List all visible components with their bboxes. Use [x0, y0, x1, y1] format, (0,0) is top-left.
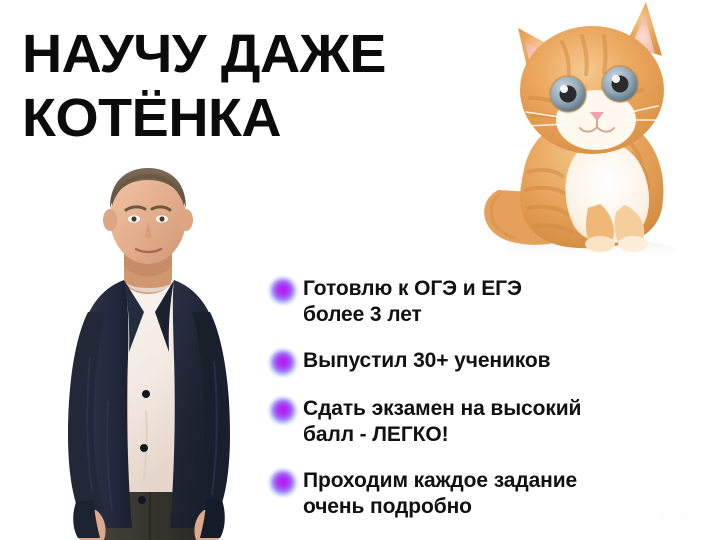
- list-item-line: более 3 лет: [303, 303, 422, 326]
- avito-logo-icon: [626, 506, 652, 530]
- avito-wordmark: Avito: [655, 507, 706, 529]
- list-item: Готовлю к ОГЭ и ЕГЭ более 3 лет: [270, 276, 710, 328]
- tutor-photo: [28, 162, 280, 540]
- gradient-dot-bullet-icon: [270, 350, 296, 376]
- list-item-line: очень подробно: [303, 495, 472, 518]
- gradient-dot-bullet-icon: [270, 398, 296, 424]
- list-item-line: Сдать экзамен на высокий: [303, 397, 581, 420]
- list-item-line: балл - ЛЕГКО!: [303, 423, 449, 446]
- list-item-line: Готовлю к ОГЭ и ЕГЭ: [303, 277, 522, 300]
- gradient-dot-bullet-icon: [270, 470, 296, 496]
- ad-banner-canvas: НАУЧУ ДАЖЕ КОТЁНКА: [0, 0, 720, 540]
- list-item: Выпустил 30+ учеников: [270, 348, 710, 376]
- avito-watermark: Avito: [626, 506, 706, 530]
- kitten-photo: [470, 0, 720, 262]
- list-item-label: Проходим каждое задание очень подробно: [303, 468, 577, 520]
- list-item-line: Выпустил 30+ учеников: [303, 349, 550, 372]
- gradient-dot-bullet-icon: [270, 278, 296, 304]
- list-item: Сдать экзамен на высокий балл - ЛЕГКО!: [270, 396, 710, 448]
- list-item-label: Готовлю к ОГЭ и ЕГЭ более 3 лет: [303, 276, 522, 328]
- feature-list: Готовлю к ОГЭ и ЕГЭ более 3 лет Выпустил…: [270, 276, 710, 528]
- page-title: НАУЧУ ДАЖЕ КОТЁНКА: [22, 22, 542, 150]
- list-item-label: Сдать экзамен на высокий балл - ЛЕГКО!: [303, 396, 581, 448]
- list-item-label: Выпустил 30+ учеников: [303, 348, 550, 374]
- list-item-line: Проходим каждое задание: [303, 469, 577, 492]
